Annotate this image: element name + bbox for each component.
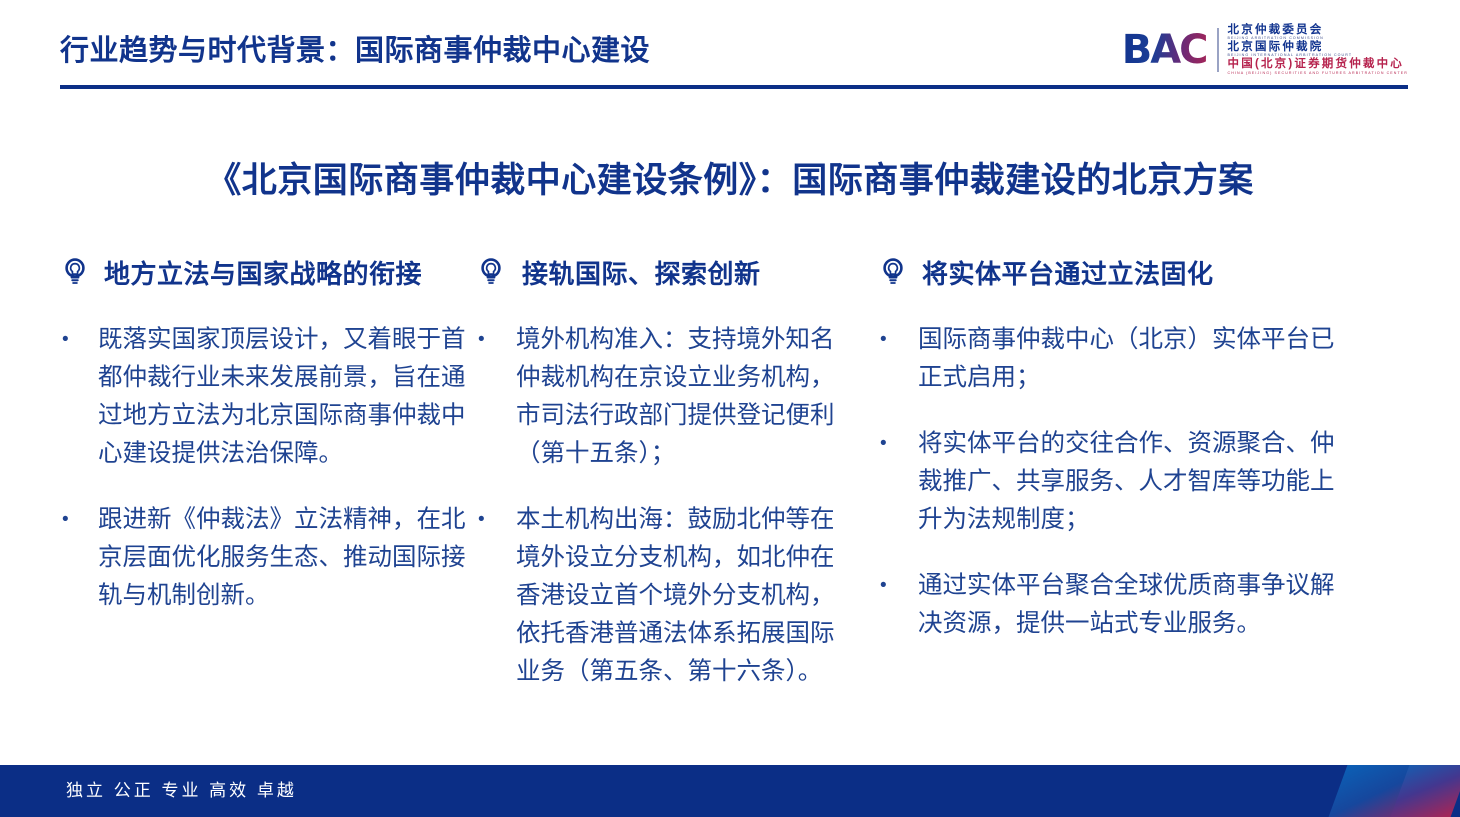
logo-line-cn: 北京国际仲裁院 <box>1228 42 1408 54</box>
slide: 行业趋势与时代背景：国际商事仲裁中心建设 BAC 北京仲裁委员会 BEIJING… <box>0 0 1460 817</box>
content-columns: 地方立法与国家战略的衔接 • 既落实国家顶层设计，又着眼于首都仲裁行业未来发展前… <box>0 248 1460 719</box>
logo-text-lines: 北京仲裁委员会 BEIJING ARBITRATION COMMISSION 北… <box>1228 25 1408 75</box>
column-heading-text: 将实体平台通过立法固化 <box>922 254 1214 291</box>
list-item: • 本土机构出海：鼓励北仲等在境外设立分支机构，如北仲在香港设立首个境外分支机构… <box>478 501 880 691</box>
logo-line-cn: 中国(北京)证券期货仲裁中心 <box>1228 59 1408 71</box>
logo-line-en: BEIJING ARBITRATION COMMISSION <box>1228 37 1408 40</box>
main-title: 《北京国际商事仲裁中心建设条例》：国际商事仲裁建设的北京方案 <box>0 152 1460 203</box>
column-heading: 将实体平台通过立法固化 <box>880 248 1350 296</box>
bullet-marker: • <box>880 321 894 397</box>
lightbulb-icon <box>62 257 88 287</box>
list-item: • 将实体平台的交往合作、资源聚合、仲裁推广、共享服务、人才智库等功能上升为法规… <box>880 425 1350 539</box>
bullet-text: 通过实体平台聚合全球优质商事争议解决资源，提供一站式专业服务。 <box>918 567 1350 643</box>
bullet-list: • 既落实国家顶层设计，又着眼于首都仲裁行业未来发展前景，旨在通过地方立法为北京… <box>62 321 470 615</box>
bullet-list: • 国际商事仲裁中心（北京）实体平台已正式启用； • 将实体平台的交往合作、资源… <box>880 321 1350 643</box>
logo-wordmark: BAC <box>1122 30 1215 70</box>
bullet-text: 将实体平台的交往合作、资源聚合、仲裁推广、共享服务、人才智库等功能上升为法规制度… <box>918 425 1350 539</box>
logo-divider <box>1217 28 1219 72</box>
list-item: • 跟进新《仲裁法》立法精神，在北京层面优化服务生态、推动国际接轨与机制创新。 <box>62 501 470 615</box>
list-item: • 通过实体平台聚合全球优质商事争议解决资源，提供一站式专业服务。 <box>880 567 1350 643</box>
lightbulb-icon <box>880 257 906 287</box>
bullet-text: 既落实国家顶层设计，又着眼于首都仲裁行业未来发展前景，旨在通过地方立法为北京国际… <box>98 321 470 473</box>
bac-logo: BAC 北京仲裁委员会 BEIJING ARBITRATION COMMISSI… <box>1122 26 1408 74</box>
bullet-marker: • <box>62 501 76 615</box>
header-divider <box>60 85 1408 89</box>
column-heading-text: 接轨国际、探索创新 <box>522 254 761 291</box>
bullet-marker: • <box>478 321 492 473</box>
bullet-text: 本土机构出海：鼓励北仲等在境外设立分支机构，如北仲在香港设立首个境外分支机构，依… <box>516 501 856 691</box>
bullet-text: 境外机构准入：支持境外知名仲裁机构在京设立业务机构，市司法行政部门提供登记便利（… <box>516 321 856 473</box>
lightbulb-icon <box>478 257 504 287</box>
footer-slogan: 独立 公正 专业 高效 卓越 <box>66 765 297 817</box>
bullet-list: • 境外机构准入：支持境外知名仲裁机构在京设立业务机构，市司法行政部门提供登记便… <box>478 321 880 691</box>
logo-line-en: CHINA (BEIJING) SECURITIES AND FUTURES A… <box>1228 72 1408 75</box>
bullet-marker: • <box>62 321 76 473</box>
logo-line: 北京国际仲裁院 BEIJING INTERNATIONAL ARBITRATIO… <box>1228 42 1408 58</box>
logo-line: 北京仲裁委员会 BEIJING ARBITRATION COMMISSION <box>1228 25 1408 41</box>
list-item: • 国际商事仲裁中心（北京）实体平台已正式启用； <box>880 321 1350 397</box>
column-heading: 接轨国际、探索创新 <box>478 248 880 296</box>
bullet-text: 跟进新《仲裁法》立法精神，在北京层面优化服务生态、推动国际接轨与机制创新。 <box>98 501 470 615</box>
bullet-marker: • <box>478 501 492 691</box>
column-local-legislation: 地方立法与国家战略的衔接 • 既落实国家顶层设计，又着眼于首都仲裁行业未来发展前… <box>0 248 470 719</box>
logo-line-cn: 北京仲裁委员会 <box>1228 25 1408 37</box>
bullet-text: 国际商事仲裁中心（北京）实体平台已正式启用； <box>918 321 1350 397</box>
logo-line-en: BEIJING INTERNATIONAL ARBITRATION COURT <box>1228 54 1408 57</box>
bullet-marker: • <box>880 567 894 643</box>
list-item: • 既落实国家顶层设计，又着眼于首都仲裁行业未来发展前景，旨在通过地方立法为北京… <box>62 321 470 473</box>
slide-header: 行业趋势与时代背景：国际商事仲裁中心建设 BAC 北京仲裁委员会 BEIJING… <box>0 0 1460 96</box>
column-platform-legislation: 将实体平台通过立法固化 • 国际商事仲裁中心（北京）实体平台已正式启用； • 将… <box>880 248 1350 719</box>
bullet-marker: • <box>880 425 894 539</box>
column-international-innovation: 接轨国际、探索创新 • 境外机构准入：支持境外知名仲裁机构在京设立业务机构，市司… <box>470 248 880 719</box>
column-heading: 地方立法与国家战略的衔接 <box>62 248 470 296</box>
page-title: 行业趋势与时代背景：国际商事仲裁中心建设 <box>60 27 650 69</box>
column-heading-text: 地方立法与国家战略的衔接 <box>104 254 422 291</box>
logo-line: 中国(北京)证券期货仲裁中心 CHINA (BEIJING) SECURITIE… <box>1228 59 1408 75</box>
slide-footer: 独立 公正 专业 高效 卓越 <box>0 765 1460 817</box>
list-item: • 境外机构准入：支持境外知名仲裁机构在京设立业务机构，市司法行政部门提供登记便… <box>478 321 880 473</box>
